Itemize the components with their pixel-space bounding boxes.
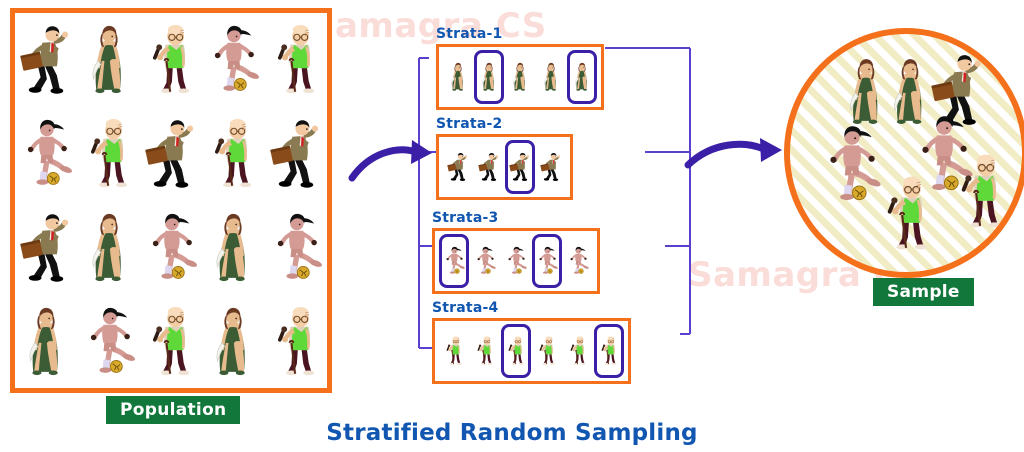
sample-person bbox=[818, 124, 884, 211]
population-person bbox=[140, 107, 202, 201]
strata-person-selected bbox=[532, 234, 562, 288]
person-footballer-icon bbox=[504, 236, 528, 286]
strata-person bbox=[501, 234, 531, 288]
person-woman-icon bbox=[17, 306, 75, 378]
person-elder-icon bbox=[597, 326, 621, 376]
person-elder-icon bbox=[442, 326, 466, 376]
curved-arrow-right-icon bbox=[352, 140, 432, 178]
population-person bbox=[78, 295, 140, 389]
person-businessman-icon bbox=[17, 212, 75, 284]
person-footballer-icon bbox=[142, 212, 200, 284]
population-person bbox=[265, 107, 327, 201]
person-woman-icon bbox=[446, 52, 470, 102]
person-footballer-icon bbox=[535, 236, 559, 286]
strata-box-4 bbox=[432, 318, 631, 384]
person-footballer-icon bbox=[80, 306, 138, 378]
population-person bbox=[265, 295, 327, 389]
strata-person bbox=[439, 324, 469, 378]
strata-person-selected bbox=[474, 50, 504, 104]
strata-person bbox=[536, 50, 566, 104]
sample-person bbox=[876, 174, 938, 259]
person-elder-icon bbox=[142, 24, 200, 96]
person-elder-icon bbox=[80, 118, 138, 190]
strata-person-selected bbox=[505, 140, 535, 194]
strata-person bbox=[474, 140, 504, 194]
person-footballer-icon bbox=[442, 236, 466, 286]
strata-label-2: Strata-2 bbox=[436, 116, 573, 132]
person-woman-icon bbox=[80, 24, 138, 96]
curved-arrow-right-icon bbox=[688, 138, 782, 165]
strata-person-selected bbox=[594, 324, 624, 378]
strata-person-selected bbox=[501, 324, 531, 378]
person-footballer-icon bbox=[566, 236, 590, 286]
person-businessman-icon bbox=[267, 118, 325, 190]
sample-badge: Sample bbox=[873, 278, 974, 306]
strata-person bbox=[443, 140, 473, 194]
population-person bbox=[265, 13, 327, 107]
person-woman-icon bbox=[539, 52, 563, 102]
page-title: Stratified Random Sampling bbox=[0, 420, 1024, 446]
diagram-canvas: Samagra CS Samagra CS Samagra CS bbox=[0, 0, 1024, 452]
person-elder-icon bbox=[267, 24, 325, 96]
person-businessman-icon bbox=[446, 142, 470, 192]
person-footballer-icon bbox=[267, 212, 325, 284]
person-woman-icon bbox=[204, 212, 262, 284]
person-elder-icon bbox=[535, 326, 559, 376]
strata-person bbox=[443, 50, 473, 104]
population-person bbox=[15, 295, 77, 389]
person-elder-icon bbox=[950, 152, 1012, 232]
sample-circle bbox=[784, 28, 1024, 278]
population-person bbox=[15, 201, 77, 295]
strata-box-1 bbox=[436, 44, 604, 110]
strata-block-3: Strata-3 bbox=[432, 210, 600, 294]
strata-person bbox=[505, 50, 535, 104]
strata-person-selected bbox=[567, 50, 597, 104]
strata-block-2: Strata-2 bbox=[436, 116, 573, 200]
population-person bbox=[202, 107, 264, 201]
strata-person bbox=[563, 324, 593, 378]
population-person bbox=[15, 13, 77, 107]
person-elder-icon bbox=[504, 326, 528, 376]
population-person bbox=[265, 201, 327, 295]
strata-person bbox=[470, 234, 500, 288]
person-businessman-icon bbox=[17, 24, 75, 96]
strata-block-4: Strata-4 bbox=[432, 300, 631, 384]
strata-person bbox=[563, 234, 593, 288]
sample-person bbox=[950, 152, 1012, 237]
person-woman-icon bbox=[80, 212, 138, 284]
strata-box-2 bbox=[436, 134, 573, 200]
strata-person bbox=[536, 140, 566, 194]
population-person bbox=[140, 13, 202, 107]
population-person bbox=[78, 201, 140, 295]
population-person bbox=[140, 295, 202, 389]
person-woman-icon bbox=[477, 52, 501, 102]
strata-label-4: Strata-4 bbox=[432, 300, 631, 316]
person-footballer-icon bbox=[473, 236, 497, 286]
population-person bbox=[15, 107, 77, 201]
person-businessman-icon bbox=[539, 142, 563, 192]
population-person bbox=[78, 107, 140, 201]
strata-person bbox=[532, 324, 562, 378]
population-person bbox=[140, 201, 202, 295]
population-person bbox=[202, 201, 264, 295]
person-elder-icon bbox=[204, 118, 262, 190]
person-woman-icon bbox=[508, 52, 532, 102]
strata-column: Strata-1 Strata-2 Strata-3 Strata-4 bbox=[432, 18, 672, 378]
person-woman-icon bbox=[570, 52, 594, 102]
person-businessman-icon bbox=[508, 142, 532, 192]
person-footballer-icon bbox=[818, 124, 884, 206]
population-panel bbox=[10, 8, 332, 393]
person-elder-icon bbox=[142, 306, 200, 378]
population-person bbox=[202, 295, 264, 389]
person-businessman-icon bbox=[142, 118, 200, 190]
person-footballer-icon bbox=[17, 118, 75, 190]
strata-block-1: Strata-1 bbox=[436, 26, 604, 110]
person-elder-icon bbox=[473, 326, 497, 376]
strata-label-3: Strata-3 bbox=[432, 210, 600, 226]
strata-person-selected bbox=[439, 234, 469, 288]
population-grid bbox=[15, 13, 327, 388]
strata-box-3 bbox=[432, 228, 600, 294]
population-person bbox=[78, 13, 140, 107]
population-person bbox=[202, 13, 264, 107]
strata-person bbox=[470, 324, 500, 378]
person-elder-icon bbox=[267, 306, 325, 378]
person-elder-icon bbox=[876, 174, 938, 254]
person-elder-icon bbox=[566, 326, 590, 376]
strata-label-1: Strata-1 bbox=[436, 26, 604, 42]
person-businessman-icon bbox=[477, 142, 501, 192]
person-woman-icon bbox=[204, 306, 262, 378]
person-footballer-icon bbox=[204, 24, 262, 96]
